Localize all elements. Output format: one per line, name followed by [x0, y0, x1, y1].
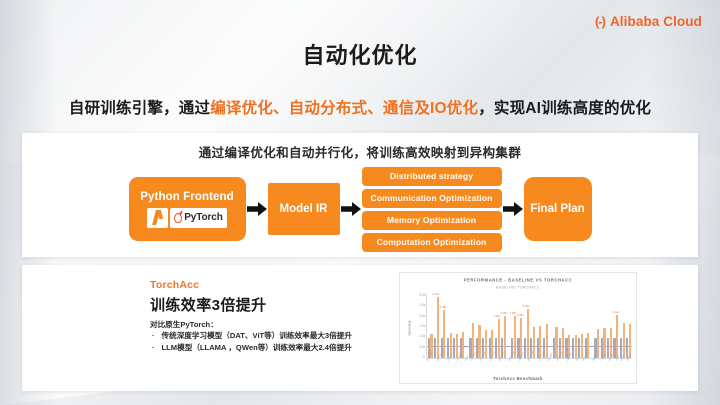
node-model-ir-label: Model IR [280, 203, 328, 215]
chart-bar-group [459, 293, 465, 358]
chart-bar-acc [527, 309, 529, 358]
chart-title: PERFORMANCE - BASELINE VS TORCHACC [399, 278, 637, 283]
list-item: · 传统深度学习模型（DAT、ViT等）训练效率最大3倍提升 [152, 330, 352, 342]
chart-bar-acc [623, 323, 625, 358]
node-python-frontend-label: Python Frontend [140, 191, 234, 203]
alibaba-cloud-logo: (-) Alibaba Cloud [595, 14, 702, 29]
chart-bar-group: 2.05x [500, 293, 506, 358]
bullet-text: LLM模型（LLAMA ，QWen等）训练效率最大2.4倍提升 [162, 342, 352, 354]
chart-y-tick: 2.0x [419, 313, 425, 318]
list-item: · LLM模型（LLAMA ，QWen等）训练效率最大2.4倍提升 [152, 342, 352, 354]
opt-distributed-strategy[interactable]: Distributed strategy [362, 167, 502, 186]
pytorch-wordmark: PyTorch [184, 212, 223, 223]
chart-legend: BASELINE TORCHACC [399, 285, 637, 290]
chart-y-tick: 0 [423, 355, 425, 360]
opt-communication-optimization[interactable]: Communication Optimization [362, 189, 502, 208]
architecture-card: 通过编译优化和自动并行化，将训练高效映射到异构集群 Python Fronten… [22, 133, 698, 257]
opt-memory-optimization[interactable]: Memory Optimization [362, 211, 502, 230]
torchacc-brand-label: TorchAcc [150, 279, 199, 291]
diagram-title: 通过编译优化和自动并行化，将训练高效映射到异构集群 [22, 142, 698, 161]
chart-bar-group [584, 293, 590, 358]
bullet-text: 传统深度学习模型（DAT、ViT等）训练效率最大3倍提升 [162, 330, 352, 342]
pytorch-flame-icon: PyTorch [174, 212, 223, 223]
node-python-frontend[interactable]: Python Frontend PyTorch [129, 177, 246, 241]
bullet-dot-icon: · [152, 330, 155, 342]
results-headline: 训练效率3倍提升 [150, 294, 267, 315]
opt-computation-optimization[interactable]: Computation Optimization [362, 233, 502, 252]
node-model-ir[interactable]: Model IR [268, 183, 340, 235]
chart-plot-area: 3.02x2.35x1.90x2.05x2.08x1.95x2.40x2.10x [426, 293, 632, 359]
results-bullet-list: · 传统深度学习模型（DAT、ViT等）训练效率最大3倍提升 · LLM模型（L… [152, 330, 352, 354]
chart-y-tick: 3.0x [419, 293, 425, 298]
chart-bar-acc [478, 325, 480, 358]
chart-bar-group [542, 293, 548, 358]
tensorflow-icon [151, 210, 164, 225]
node-final-plan[interactable]: Final Plan [524, 177, 592, 241]
chart-bar-acc [498, 319, 500, 358]
results-card: TorchAcc 训练效率3倍提升 对比原生PyTorch： · 传统深度学习模… [22, 265, 698, 391]
subtitle-highlight: 编译优化、自动分布式、通信及IO优化 [210, 100, 478, 117]
chart-y-tick: 1.0x [419, 334, 425, 339]
arrow-right-icon-3 [502, 199, 524, 219]
alibaba-cloud-mark-icon: (-) [595, 15, 605, 28]
chart-bar-acc [616, 315, 618, 358]
arrow-right-icon-1 [246, 199, 268, 219]
benchmark-chart[interactable]: PERFORMANCE - BASELINE VS TORCHACC BASEL… [399, 272, 637, 384]
page-title: 自动化优化 [0, 38, 720, 70]
pytorch-logo: PyTorch [170, 208, 227, 228]
chart-bar-group [625, 293, 631, 358]
framework-logo-row: PyTorch [147, 208, 227, 228]
optimization-stack: Distributed strategy Communication Optim… [362, 167, 502, 252]
node-final-plan-label: Final Plan [530, 203, 584, 215]
chart-y-ticks: 3.0x2.5x2.0x1.5x1.0x0.5x0 [409, 293, 425, 359]
chart-x-axis-label: TorchAcc Benchmark [399, 376, 637, 381]
alibaba-cloud-wordmark: Alibaba Cloud [610, 14, 702, 29]
chart-y-tick: 2.5x [419, 303, 425, 308]
tensorflow-logo [147, 208, 168, 228]
chart-bar-acc [504, 316, 506, 358]
chart-y-tick: 0.5x [419, 344, 425, 349]
flow-diagram: Python Frontend PyTorch Model IR [22, 163, 698, 255]
bullet-dot-icon: · [152, 342, 155, 354]
chart-bar-acc [555, 327, 557, 358]
arrow-right-icon-2 [340, 199, 362, 219]
subtitle-lead: 自研训练引擎，通过 [69, 100, 210, 117]
chart-data-label: 2.05x [500, 312, 507, 315]
chart-y-tick: 1.5x [419, 324, 425, 329]
page-subtitle: 自研训练引擎，通过编译优化、自动分布式、通信及IO优化，实现AI训练高度的优化 [0, 96, 720, 118]
compare-label: 对比原生PyTorch： [150, 319, 218, 330]
subtitle-tail: ，实现AI训练高度的优化 [478, 100, 651, 117]
